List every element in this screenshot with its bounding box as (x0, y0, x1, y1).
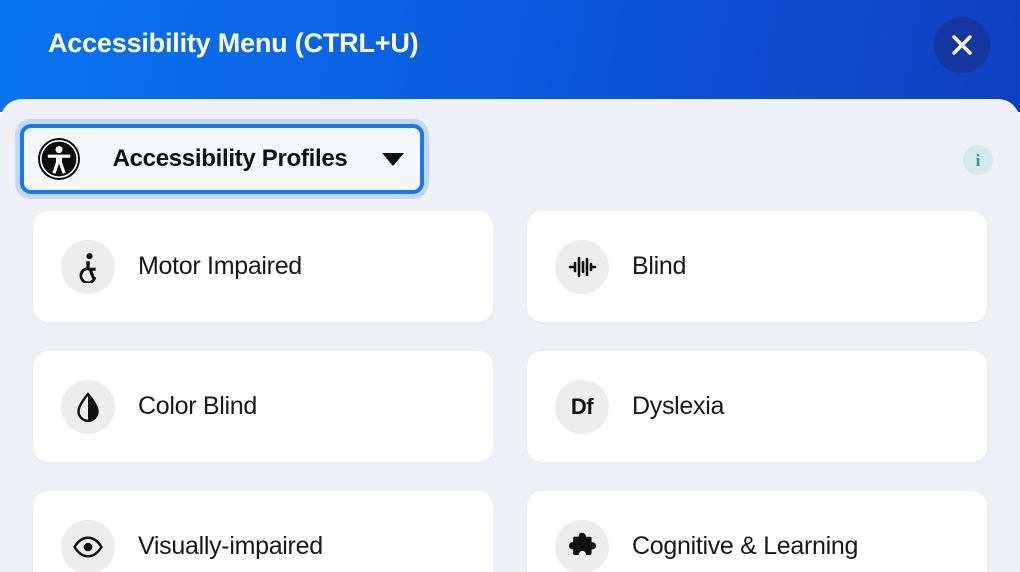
chevron-down-icon (382, 153, 404, 166)
audio-waveform-icon (555, 240, 609, 294)
close-button[interactable] (934, 17, 990, 73)
accessibility-menu-widget: Accessibility Menu (CTRL+U) (0, 0, 1020, 572)
close-icon (948, 31, 976, 59)
profiles-grid: Motor Impaired (33, 211, 987, 572)
accessibility-profiles-dropdown[interactable]: Accessibility Profiles (20, 124, 424, 194)
header-bar: Accessibility Menu (CTRL+U) (0, 0, 1020, 112)
accessibility-person-icon (36, 136, 82, 182)
dyslexia-icon-text: Df (571, 394, 593, 420)
profile-card-label: Visually-impaired (138, 532, 323, 561)
profile-card-motor-impaired[interactable]: Motor Impaired (33, 211, 493, 322)
dyslexia-font-icon: Df (555, 380, 609, 434)
profile-card-visually-impaired[interactable]: Visually-impaired (33, 491, 493, 572)
menu-body-panel: Accessibility Profiles i Motor Impai (0, 99, 1020, 572)
profile-card-label: Motor Impaired (138, 252, 302, 281)
profile-card-blind[interactable]: Blind (527, 211, 987, 322)
profile-card-label: Dyslexia (632, 392, 724, 421)
profile-card-dyslexia[interactable]: Df Dyslexia (527, 351, 987, 462)
wheelchair-icon (61, 240, 115, 294)
profile-card-label: Blind (632, 252, 686, 281)
info-glyph: i (976, 152, 981, 169)
page-title: Accessibility Menu (CTRL+U) (48, 28, 418, 59)
profile-card-color-blind[interactable]: Color Blind (33, 351, 493, 462)
info-icon[interactable]: i (963, 145, 993, 175)
contrast-droplet-icon (61, 380, 115, 434)
dropdown-selected-label: Accessibility Profiles (82, 145, 382, 173)
profile-card-label: Color Blind (138, 392, 257, 421)
puzzle-piece-icon (555, 520, 609, 572)
eye-icon (61, 520, 115, 572)
profiles-toolbar: Accessibility Profiles i (0, 120, 1020, 198)
profile-card-label: Cognitive & Learning (632, 532, 858, 561)
profile-card-cognitive-learning[interactable]: Cognitive & Learning (527, 491, 987, 572)
